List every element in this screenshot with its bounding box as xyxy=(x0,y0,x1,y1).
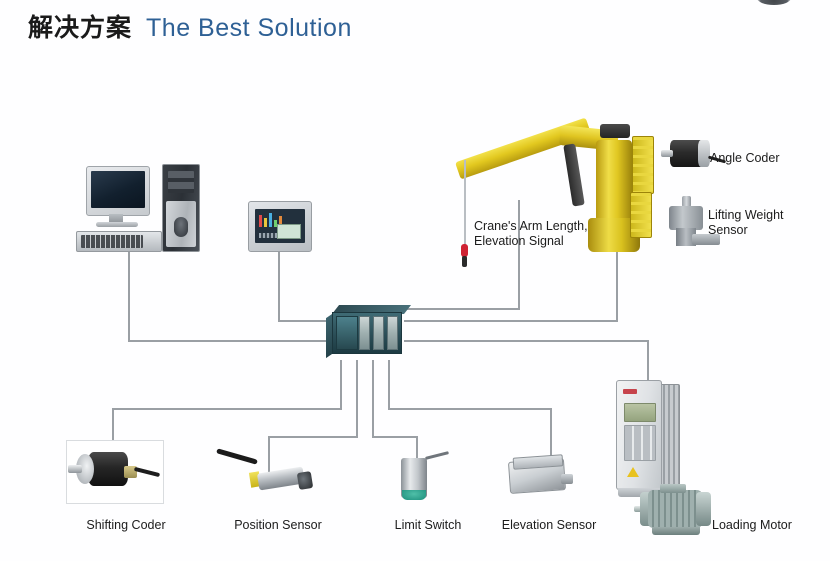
plc-io-module xyxy=(359,316,370,350)
elevation-sensor-label: Elevation Sensor xyxy=(487,518,611,533)
keyboard-keys xyxy=(81,235,143,248)
sensor-head xyxy=(297,471,313,490)
inclinometer-connector xyxy=(561,474,573,484)
diagram-canvas: 解决方案 The Best Solution xyxy=(0,0,830,561)
wire-crane-horizontal xyxy=(404,308,520,310)
vfd-display xyxy=(624,403,656,422)
monitor xyxy=(86,166,150,216)
plc-cpu-module xyxy=(336,316,358,350)
loading-motor[interactable] xyxy=(634,484,720,540)
drive-bays xyxy=(168,171,194,193)
encoder-shaft xyxy=(661,150,673,157)
crane-signal-label: Crane's Arm Length, Elevation Signal xyxy=(474,219,624,249)
position-sensor[interactable] xyxy=(216,448,326,502)
wire-drop-1 xyxy=(340,360,342,410)
hoist-hook xyxy=(462,256,467,267)
load-cell-body xyxy=(669,206,703,230)
title-chinese: 解决方案 xyxy=(28,8,132,44)
tower-front-panel xyxy=(166,201,196,247)
vfd-brand-mark xyxy=(623,389,637,394)
motor-housing xyxy=(648,490,702,528)
wire-shifting-coder-vertical xyxy=(112,408,114,442)
pc-tower xyxy=(162,164,200,252)
vfd-drive[interactable] xyxy=(614,378,684,500)
computer[interactable] xyxy=(76,166,200,252)
encoder-cap xyxy=(698,140,710,167)
motor-terminal-box xyxy=(660,484,686,493)
shifting-coder-label: Shifting Coder xyxy=(66,518,186,533)
wire-drop-4 xyxy=(388,360,390,410)
cropped-top-graphic xyxy=(757,0,791,5)
crane-rail-right xyxy=(632,136,654,194)
page-title: 解决方案 The Best Solution xyxy=(28,8,352,44)
hmi-panel[interactable] xyxy=(248,201,310,250)
plc-rack xyxy=(326,305,404,353)
wire-pc-horizontal xyxy=(128,340,328,342)
encoder-shaft xyxy=(68,465,82,473)
wire-position-sensor-horizontal xyxy=(268,436,358,438)
hmi-housing xyxy=(248,201,312,252)
hmi-status-strip xyxy=(259,233,279,238)
loading-motor-label: Loading Motor xyxy=(712,518,830,533)
crane-hoist-line xyxy=(464,160,466,256)
limit-switch[interactable] xyxy=(395,452,455,502)
plc-io-module xyxy=(373,316,384,350)
wire-elevation-sensor-horizontal xyxy=(388,408,552,410)
motor-end-bell-right xyxy=(696,492,711,526)
plc-controller[interactable] xyxy=(326,305,404,360)
wire-elevation-sensor-vertical xyxy=(550,408,552,456)
wire-shifting-coder-horizontal xyxy=(112,408,342,410)
vfd-front-cover xyxy=(616,380,662,490)
wire-drop-3 xyxy=(372,360,374,438)
position-sensor-label: Position Sensor xyxy=(216,518,340,533)
monitor-base xyxy=(96,222,138,227)
wire-hmi-vertical xyxy=(278,250,280,322)
crane-top-cap xyxy=(600,124,630,138)
lifting-weight-sensor-label: Lifting Weight Sensor xyxy=(708,208,818,238)
crane-knuckle-cylinder xyxy=(563,143,585,206)
encoder-cable xyxy=(134,467,160,477)
switch-cable xyxy=(425,451,449,460)
shifting-coder[interactable] xyxy=(66,440,166,502)
wire-pc-vertical xyxy=(128,252,130,342)
angle-coder-label: Angle Coder xyxy=(710,151,830,166)
wire-crane-base-horizontal xyxy=(404,320,618,322)
wire-drop-2 xyxy=(356,360,358,438)
warning-triangle-icon xyxy=(627,467,639,477)
encoder-body xyxy=(88,452,128,486)
limit-switch-label: Limit Switch xyxy=(373,518,483,533)
title-english: The Best Solution xyxy=(146,14,352,43)
monitor-screen xyxy=(91,171,145,208)
crane-column xyxy=(596,140,632,226)
plc-front-face xyxy=(332,312,402,354)
switch-sensing-face xyxy=(402,490,426,500)
hmi-dialog xyxy=(277,224,301,239)
elevation-sensor[interactable] xyxy=(505,452,585,500)
wire-vfd-horizontal xyxy=(404,340,649,342)
wire-hmi-horizontal xyxy=(278,320,328,322)
vfd-keypad xyxy=(624,425,656,461)
wire-limit-switch-horizontal xyxy=(372,436,418,438)
motor-feet xyxy=(652,527,700,535)
plc-io-modules xyxy=(359,316,398,350)
sensor-cable xyxy=(216,448,258,464)
crane-rail-lower xyxy=(630,192,652,238)
tower-power-knob xyxy=(174,217,188,237)
keyboard xyxy=(76,231,162,252)
hmi-screen xyxy=(255,209,305,243)
plc-io-module xyxy=(387,316,398,350)
